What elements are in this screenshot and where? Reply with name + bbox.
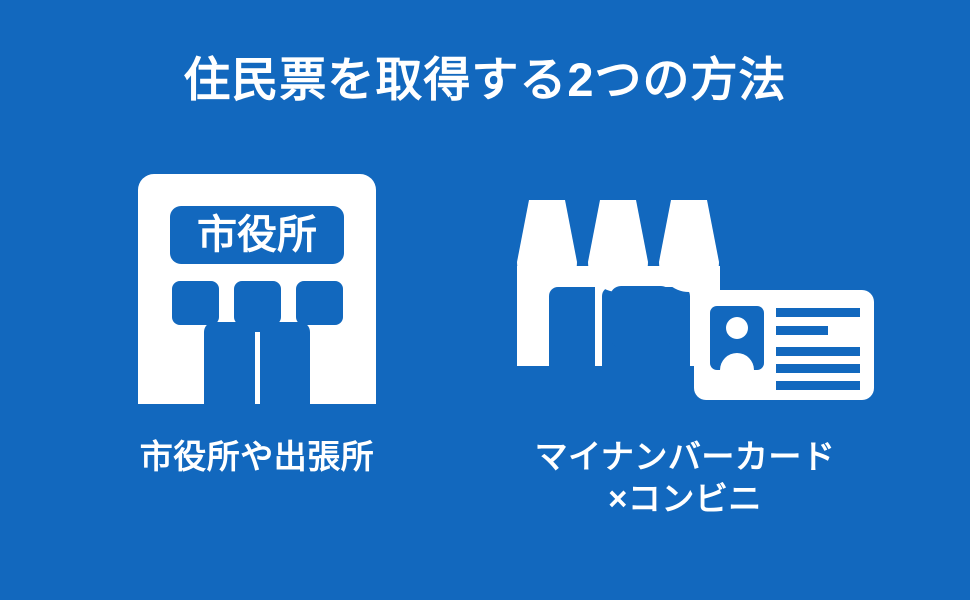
id-card-line-3 — [776, 347, 860, 356]
id-card-line-5 — [776, 381, 860, 390]
city-hall-icon-wrap: 市役所 — [92, 168, 422, 418]
building-window-right — [296, 281, 343, 325]
page-title: 住民票を取得する2つの方法 — [0, 54, 970, 106]
convenience-store-with-id-card-icon — [470, 168, 900, 418]
id-card-person-head-icon — [726, 317, 748, 339]
infographic-canvas: 住民票を取得する2つの方法 市役所 市役所や出張所 — [0, 0, 970, 600]
option-city-hall-caption: 市役所や出張所 — [92, 436, 422, 478]
city-hall-sign-text: 市役所 — [197, 213, 317, 257]
option-convenience-store-caption: マイナンバーカード ×コンビニ — [470, 436, 900, 520]
store-left-pillar — [517, 266, 549, 366]
id-card-line-4 — [776, 364, 860, 373]
store-door-opening — [549, 287, 595, 366]
building-window-center — [234, 281, 281, 325]
city-hall-building-icon: 市役所 — [92, 168, 422, 418]
convenience-store-icon-wrap — [470, 168, 900, 418]
id-card-line-2 — [776, 326, 828, 335]
id-card — [694, 290, 874, 400]
option-convenience-store: マイナンバーカード ×コンビニ — [470, 168, 900, 418]
id-card-line-1 — [776, 308, 860, 317]
store-window — [610, 286, 672, 348]
building-window-left — [172, 281, 219, 325]
option-city-hall: 市役所 市役所や出張所 — [92, 168, 422, 418]
